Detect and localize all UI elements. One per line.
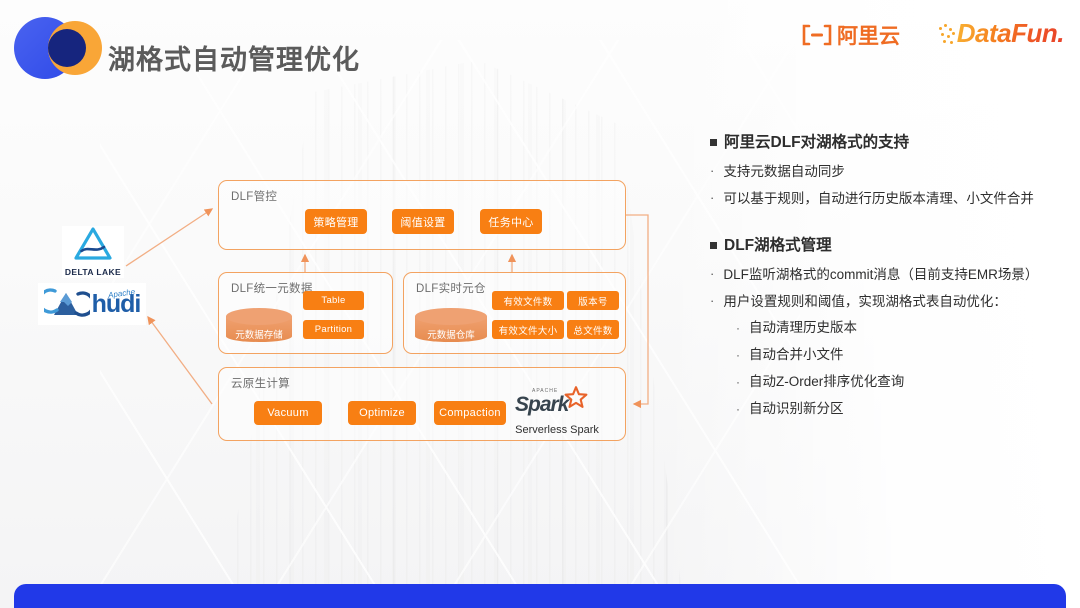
dot-bullet-icon: · [736, 399, 740, 419]
list-item: · 支持元数据自动同步 [710, 161, 1060, 182]
cylinder-metadata-storage: 元数据存储 [226, 308, 292, 344]
button-vacuum[interactable]: Vacuum [254, 401, 322, 425]
section-heading-text: DLF湖格式管理 [724, 233, 832, 255]
panel-title-cloud-native-compute: 云原生计算 [231, 375, 290, 391]
list-item: · DLF监听湖格式的commit消息（目前支持EMR场景） [710, 264, 1060, 285]
panel-title-dlf-control: DLF管控 [231, 188, 277, 204]
button-version-number[interactable]: 版本号 [567, 291, 619, 310]
delta-lake-triangle-icon [73, 227, 113, 266]
cylinder-metadata-warehouse: 元数据仓库 [415, 308, 487, 344]
button-task-center[interactable]: 任务中心 [480, 209, 542, 234]
dot-bullet-icon: · [710, 161, 714, 182]
dot-bullet-icon: · [710, 188, 714, 209]
section-heading: 阿里云DLF对湖格式的支持 [710, 130, 1060, 152]
datafun-dots-icon [939, 22, 956, 46]
list-item-text: 用户设置规则和阈值，实现湖格式表自动优化： [723, 291, 1007, 312]
spark-caption: Serverless Spark [512, 424, 602, 436]
slide-header: 湖格式自动管理优化 阿里云 DataFun. [0, 0, 1080, 95]
list-item-text: 自动合并小文件 [749, 345, 844, 365]
panel-title-unified-metadata: DLF统一元数据 [231, 280, 313, 296]
content-panel: 阿里云DLF对湖格式的支持 · 支持元数据自动同步 · 可以基于规则，自动进行历… [710, 130, 1060, 443]
button-table[interactable]: Table [303, 291, 364, 310]
list-item: · 自动Z-Order排序优化查询 [736, 372, 1060, 392]
list-item-text: 自动识别新分区 [749, 399, 844, 419]
alicloud-label: 阿里云 [837, 20, 900, 50]
list-item-text: 自动清理历史版本 [749, 318, 857, 338]
button-optimize[interactable]: Optimize [348, 401, 416, 425]
delta-lake-caption: DELTA LAKE [65, 267, 121, 277]
square-bullet-icon [710, 242, 717, 249]
datafun-logo: DataFun. [939, 18, 1064, 49]
square-bullet-icon [710, 139, 717, 146]
button-policy-management[interactable]: 策略管理 [305, 209, 367, 234]
dot-bullet-icon: · [736, 372, 740, 392]
section-heading: DLF湖格式管理 [710, 233, 1060, 255]
button-threshold-settings[interactable]: 阈值设置 [392, 209, 454, 234]
dot-bullet-icon: · [710, 291, 714, 312]
section-dlf-lake-format-management: DLF湖格式管理 · DLF监听湖格式的commit消息（目前支持EMR场景） … [710, 233, 1060, 419]
list-item: · 自动清理历史版本 [736, 318, 1060, 338]
list-item: · 用户设置规则和阈值，实现湖格式表自动优化： [710, 291, 1060, 312]
button-compaction[interactable]: Compaction [434, 401, 506, 425]
cylinder-top [415, 308, 487, 325]
logo-overlap-circle [48, 29, 86, 67]
cylinder-label-metadata-storage: 元数据存储 [226, 325, 292, 343]
section-alicloud-dlf-support: 阿里云DLF对湖格式的支持 · 支持元数据自动同步 · 可以基于规则，自动进行历… [710, 130, 1060, 209]
hudi-mountain-icon [44, 285, 90, 324]
alicloud-logo: 阿里云 [802, 20, 900, 50]
alicloud-bracket-icon [802, 24, 832, 46]
cylinder-label-metadata-warehouse: 元数据仓库 [415, 325, 487, 343]
button-total-file-count[interactable]: 总文件数 [567, 320, 619, 339]
spark-wordmark: Spark [515, 393, 568, 417]
dot-bullet-icon: · [736, 345, 740, 365]
button-valid-file-size[interactable]: 有效文件大小 [492, 320, 564, 339]
list-item: · 自动合并小文件 [736, 345, 1060, 365]
cylinder-top [226, 308, 292, 325]
button-partition[interactable]: Partition [303, 320, 364, 339]
page-title: 湖格式自动管理优化 [108, 38, 360, 77]
datafun-label: DataFun. [957, 18, 1064, 49]
footer-accent-bar [14, 584, 1066, 608]
panel-title-realtime-warehouse: DLF实时元仓 [416, 280, 486, 296]
apache-hudi-logo: hudi Apache [38, 283, 146, 325]
list-item-text: 可以基于规则，自动进行历史版本清理、小文件合并 [723, 188, 1034, 209]
spark-star-icon [564, 386, 588, 415]
dot-bullet-icon: · [710, 264, 714, 285]
button-valid-file-count[interactable]: 有效文件数 [492, 291, 564, 310]
delta-lake-logo: DELTA LAKE [62, 226, 124, 278]
venn-circles-logo-icon [14, 17, 110, 79]
list-item: · 可以基于规则，自动进行历史版本清理、小文件合并 [710, 188, 1060, 209]
apache-spark-logo: APACHE Spark Serverless Spark [514, 388, 594, 438]
sub-list: · 自动清理历史版本 · 自动合并小文件 · 自动Z-Order排序优化查询 ·… [736, 318, 1060, 419]
list-item-text: DLF监听湖格式的commit消息（目前支持EMR场景） [723, 264, 1038, 285]
dot-bullet-icon: · [736, 318, 740, 338]
list-item: · 自动识别新分区 [736, 399, 1060, 419]
list-item-text: 自动Z-Order排序优化查询 [749, 372, 904, 392]
section-heading-text: 阿里云DLF对湖格式的支持 [724, 130, 909, 152]
list-item-text: 支持元数据自动同步 [723, 161, 845, 182]
